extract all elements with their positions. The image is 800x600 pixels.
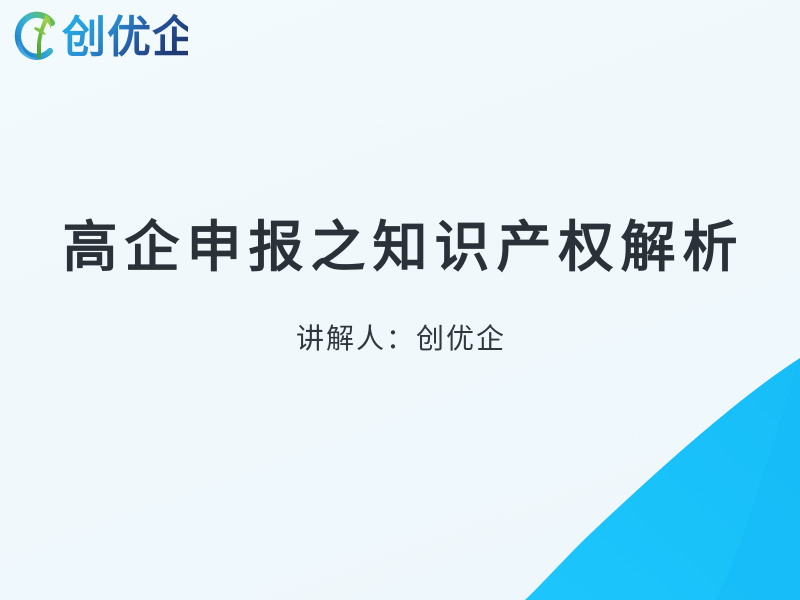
logo-swoosh-icon	[10, 10, 62, 66]
logo-wordmark: 创优企	[62, 12, 188, 64]
brand-logo: 创优企	[10, 8, 188, 68]
title-block: 高企申报之知识产权解析 讲解人：创优企	[0, 218, 800, 357]
page-title: 高企申报之知识产权解析	[0, 218, 800, 277]
bottom-right-blue-wedge	[470, 340, 800, 600]
title-slide: 创优企 高企申报之知识产权解析 讲解人：创优企	[0, 0, 800, 600]
presenter-subtitle: 讲解人：创优企	[0, 277, 800, 357]
logo-wordmark-text: 创优企	[62, 12, 188, 63]
